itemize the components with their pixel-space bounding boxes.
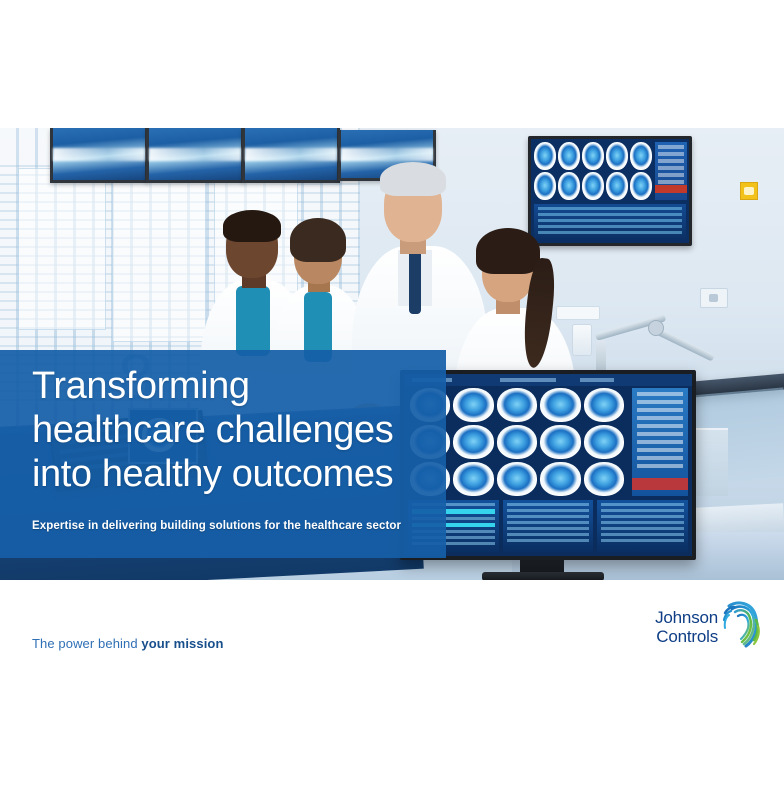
lamp-joint: [648, 320, 664, 336]
title-line-1: Transforming: [32, 364, 428, 408]
hair: [290, 218, 346, 262]
brain-scan-icon: [558, 142, 580, 170]
page-title: Transforming healthcare challenges into …: [32, 364, 428, 496]
hair: [380, 162, 446, 196]
title-banner-content: Transforming healthcare challenges into …: [32, 364, 428, 532]
footer: The power behind your mission Johnson Co…: [0, 580, 784, 800]
brain-scan-grid: [534, 142, 652, 200]
monitor-data-row: [408, 500, 688, 552]
ceiling-monitor: [242, 128, 340, 183]
brain-scan-icon: [630, 172, 652, 200]
brain-scan-icon: [453, 425, 493, 459]
hero-photograph: 8: [0, 128, 784, 580]
logo-wordmark: Johnson Controls: [640, 608, 718, 646]
tagline-emphasis: your mission: [141, 636, 223, 651]
wall-sign-icon: [740, 182, 758, 200]
brain-scan-icon: [582, 172, 604, 200]
page-subtitle: Expertise in delivering building solutio…: [32, 520, 428, 532]
johnson-controls-logo: Johnson Controls: [640, 600, 758, 658]
brain-scan-icon: [540, 425, 580, 459]
brain-scan-icon: [584, 388, 624, 422]
ceiling-monitor-bank: [50, 128, 340, 186]
brain-scan-icon: [540, 462, 580, 496]
brain-scan-icon: [497, 425, 537, 459]
title-banner: Transforming healthcare challenges into …: [0, 350, 446, 558]
brain-scan-icon: [497, 462, 537, 496]
brain-scan-icon: [497, 388, 537, 422]
brain-scan-icon: [584, 425, 624, 459]
data-panel: [503, 500, 594, 552]
brain-scan-icon: [606, 142, 628, 170]
title-line-2: healthcare challenges: [32, 408, 428, 452]
wall-panel: [18, 168, 106, 330]
brain-scan-icon: [582, 142, 604, 170]
logo-fingerprint-icon: [722, 600, 762, 650]
ceiling-monitor: [50, 128, 148, 183]
brain-scan-icon: [453, 462, 493, 496]
monitor-alert-bar: [632, 478, 688, 490]
wall-outlet-icon: [700, 288, 728, 308]
wall-panel: [112, 164, 206, 342]
monitor-alert-bar: [655, 185, 687, 193]
hair: [476, 228, 540, 274]
brain-scan-icon: [534, 172, 556, 200]
monitor-base: [482, 572, 604, 580]
brain-scan-icon: [534, 142, 556, 170]
brain-scan-icon: [540, 388, 580, 422]
brand-tagline: The power behind your mission: [32, 636, 224, 651]
necktie: [409, 252, 421, 314]
monitor-title-bar: [404, 374, 692, 386]
brain-scan-icon: [558, 172, 580, 200]
brain-scan-icon: [584, 462, 624, 496]
logo-line-2: Controls: [640, 627, 718, 646]
logo-line-1: Johnson: [640, 608, 718, 627]
data-panel: [597, 500, 688, 552]
brain-scan-icon: [453, 388, 493, 422]
title-line-3: into healthy outcomes: [32, 452, 428, 496]
scrub-top: [236, 286, 270, 356]
brain-scan-icon: [630, 142, 652, 170]
tagline-prefix: The power behind: [32, 636, 141, 651]
ceiling-monitor: [146, 128, 244, 183]
brain-scan-icon: [606, 172, 628, 200]
brochure-cover-page: 8: [0, 0, 784, 800]
